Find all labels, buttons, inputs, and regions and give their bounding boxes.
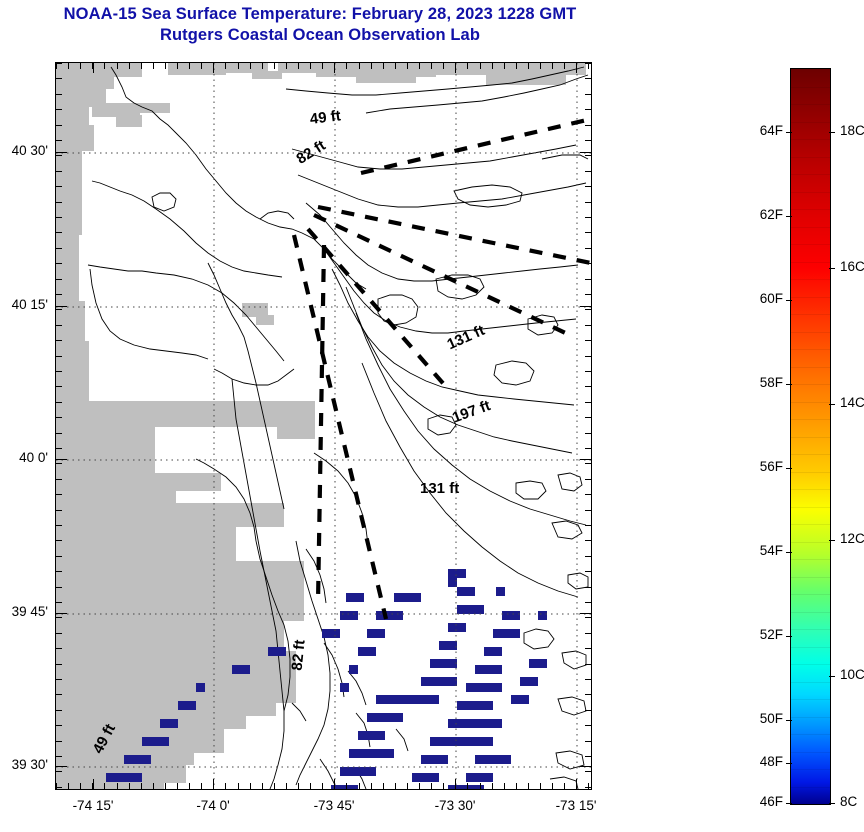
x-minor-tick: [516, 63, 517, 69]
y-minor-tick: [56, 617, 62, 618]
colorbar-band: [791, 542, 830, 561]
y-minor-tick: [56, 463, 62, 464]
x-minor-tick: [238, 783, 239, 789]
x-minor-tick: [286, 783, 287, 789]
colorbar-band: [791, 769, 830, 788]
colorbar-tick: [829, 540, 835, 541]
colorbar-band: [791, 314, 830, 333]
x-minor-tick: [310, 783, 311, 789]
y-minor-tick: [56, 371, 62, 372]
x-minor-tick: [262, 783, 263, 789]
x-minor-tick: [467, 783, 468, 789]
x-minor-tick: [129, 783, 130, 789]
x-major-tick: [576, 63, 577, 73]
depth-131ft-south: 131 ft: [420, 480, 459, 497]
colorbar-band: [791, 227, 830, 246]
x-minor-tick: [371, 783, 372, 789]
y-minor-tick: [585, 340, 591, 341]
x-minor-tick: [492, 63, 493, 69]
y-minor-tick: [585, 756, 591, 757]
x-minor-tick: [141, 63, 142, 69]
x-minor-tick: [298, 63, 299, 69]
y-minor-tick: [56, 94, 62, 95]
x-minor-tick: [225, 783, 226, 789]
x-minor-tick: [395, 63, 396, 69]
x-minor-tick: [528, 63, 529, 69]
sst-colorbar: [790, 68, 831, 805]
x-minor-tick: [274, 783, 275, 789]
colorbar-c-label: 8C: [840, 794, 857, 809]
colorbar-band: [791, 787, 830, 806]
y-minor-tick: [56, 725, 62, 726]
y-minor-tick: [585, 217, 591, 218]
y-minor-tick: [585, 664, 591, 665]
colorbar-band: [791, 402, 830, 421]
colorbar-band: [791, 139, 830, 158]
colorbar-c-label: 18C: [840, 123, 864, 138]
y-minor-tick: [585, 202, 591, 203]
x-minor-tick: [153, 783, 154, 789]
y-major-tick: [580, 306, 591, 307]
x-minor-tick: [189, 783, 190, 789]
x-minor-tick: [80, 63, 81, 69]
x-axis-label: -74 15': [45, 798, 141, 813]
y-minor-tick: [585, 263, 591, 264]
x-major-tick: [213, 63, 214, 73]
x-major-tick: [455, 779, 456, 789]
x-minor-tick: [564, 783, 565, 789]
colorbar-band: [791, 507, 830, 526]
colorbar-band: [791, 69, 830, 88]
x-minor-tick: [104, 63, 105, 69]
y-minor-tick: [585, 787, 591, 788]
y-minor-tick: [56, 433, 62, 434]
x-minor-tick: [371, 63, 372, 69]
y-minor-tick: [56, 78, 62, 79]
x-minor-tick: [504, 783, 505, 789]
x-minor-tick: [201, 63, 202, 69]
y-minor-tick: [585, 679, 591, 680]
colorbar-tick: [786, 384, 792, 385]
colorbar-band: [791, 717, 830, 736]
colorbar-band: [791, 454, 830, 473]
x-minor-tick: [165, 783, 166, 789]
colorbar-f-label: 64F: [735, 123, 783, 138]
x-minor-tick: [346, 63, 347, 69]
x-minor-tick: [540, 783, 541, 789]
x-major-tick: [213, 779, 214, 789]
y-minor-tick: [585, 371, 591, 372]
y-minor-tick: [585, 232, 591, 233]
colorbar-band: [791, 332, 830, 351]
colorbar-band: [791, 297, 830, 316]
x-minor-tick: [117, 783, 118, 789]
x-minor-tick: [177, 783, 178, 789]
colorbar-c-label: 12C: [840, 531, 864, 546]
y-major-tick: [56, 459, 67, 460]
y-minor-tick: [585, 402, 591, 403]
y-minor-tick: [585, 248, 591, 249]
y-minor-tick: [585, 417, 591, 418]
x-minor-tick: [250, 783, 251, 789]
x-minor-tick: [383, 63, 384, 69]
y-minor-tick: [585, 463, 591, 464]
y-minor-tick: [585, 294, 591, 295]
colorbar-band: [791, 734, 830, 753]
y-minor-tick: [56, 448, 62, 449]
transect-lines-layer: [56, 63, 591, 789]
x-minor-tick: [516, 783, 517, 789]
colorbar-band: [791, 262, 830, 281]
y-minor-tick: [56, 109, 62, 110]
y-minor-tick: [56, 140, 62, 141]
x-minor-tick: [419, 783, 420, 789]
y-minor-tick: [56, 556, 62, 557]
y-minor-tick: [56, 787, 62, 788]
title-line-1: NOAA-15 Sea Surface Temperature: Februar…: [0, 4, 640, 25]
y-minor-tick: [56, 771, 62, 772]
colorbar-c-label: 10C: [840, 667, 864, 682]
colorbar-tick: [829, 268, 835, 269]
y-major-tick: [56, 766, 67, 767]
y-minor-tick: [56, 202, 62, 203]
y-minor-tick: [585, 494, 591, 495]
y-major-tick: [580, 459, 591, 460]
x-minor-tick: [189, 63, 190, 69]
colorbar-gradient: [791, 69, 830, 804]
x-minor-tick: [480, 783, 481, 789]
x-major-tick: [93, 63, 94, 73]
y-minor-tick: [56, 125, 62, 126]
colorbar-band: [791, 629, 830, 648]
colorbar-band: [791, 384, 830, 403]
y-minor-tick: [56, 479, 62, 480]
x-minor-tick: [322, 783, 323, 789]
x-minor-tick: [564, 63, 565, 69]
x-minor-tick: [68, 783, 69, 789]
x-minor-tick: [504, 63, 505, 69]
y-minor-tick: [585, 771, 591, 772]
x-minor-tick: [383, 783, 384, 789]
colorbar-f-label: 46F: [735, 794, 783, 809]
depth-82ft-south: 82 ft: [289, 639, 309, 671]
x-minor-tick: [80, 783, 81, 789]
colorbar-band: [791, 367, 830, 386]
y-minor-tick: [585, 140, 591, 141]
colorbar-tick: [829, 803, 835, 804]
colorbar-band: [791, 647, 830, 666]
y-major-tick: [56, 152, 67, 153]
y-minor-tick: [56, 417, 62, 418]
title-line-2: Rutgers Coastal Ocean Observation Lab: [0, 25, 640, 46]
colorbar-band: [791, 157, 830, 176]
x-minor-tick: [322, 63, 323, 69]
x-major-tick: [93, 779, 94, 789]
y-minor-tick: [585, 556, 591, 557]
colorbar-f-label: 56F: [735, 459, 783, 474]
y-minor-tick: [585, 63, 591, 64]
y-minor-tick: [585, 279, 591, 280]
colorbar-band: [791, 524, 830, 543]
x-minor-tick: [467, 63, 468, 69]
y-minor-tick: [56, 386, 62, 387]
y-major-tick: [580, 766, 591, 767]
y-minor-tick: [585, 725, 591, 726]
y-minor-tick: [585, 741, 591, 742]
x-minor-tick: [407, 63, 408, 69]
colorbar-band: [791, 437, 830, 456]
y-major-tick: [580, 152, 591, 153]
x-axis-label: -73 15': [528, 798, 624, 813]
x-minor-tick: [250, 63, 251, 69]
x-minor-tick: [443, 63, 444, 69]
x-minor-tick: [104, 783, 105, 789]
y-minor-tick: [56, 309, 62, 310]
y-minor-tick: [585, 694, 591, 695]
y-minor-tick: [56, 756, 62, 757]
colorbar-tick: [786, 552, 792, 553]
x-minor-tick: [298, 783, 299, 789]
y-minor-tick: [56, 571, 62, 572]
colorbar-band: [791, 104, 830, 123]
y-minor-tick: [56, 186, 62, 187]
sst-map-panel: [55, 62, 592, 790]
colorbar-band: [791, 489, 830, 508]
y-minor-tick: [585, 510, 591, 511]
colorbar-band: [791, 699, 830, 718]
colorbar-band: [791, 279, 830, 298]
x-major-tick: [334, 63, 335, 73]
colorbar-band: [791, 419, 830, 438]
colorbar-band: [791, 577, 830, 596]
y-minor-tick: [585, 633, 591, 634]
x-axis-label: -73 30': [407, 798, 503, 813]
colorbar-tick: [786, 803, 792, 804]
x-minor-tick: [528, 783, 529, 789]
x-minor-tick: [346, 783, 347, 789]
colorbar-band: [791, 664, 830, 683]
x-major-tick: [576, 779, 577, 789]
y-minor-tick: [585, 386, 591, 387]
x-minor-tick: [177, 63, 178, 69]
colorbar-tick: [786, 720, 792, 721]
colorbar-band: [791, 174, 830, 193]
y-axis-label: 40 30': [0, 143, 48, 158]
y-minor-tick: [56, 664, 62, 665]
y-minor-tick: [56, 171, 62, 172]
x-minor-tick: [540, 63, 541, 69]
y-minor-tick: [585, 109, 591, 110]
y-minor-tick: [585, 479, 591, 480]
y-axis-label: 39 45': [0, 604, 48, 619]
colorbar-tick: [829, 404, 835, 405]
y-minor-tick: [56, 710, 62, 711]
x-minor-tick: [286, 63, 287, 69]
y-minor-tick: [56, 694, 62, 695]
x-minor-tick: [419, 63, 420, 69]
colorbar-f-label: 62F: [735, 207, 783, 222]
x-minor-tick: [407, 783, 408, 789]
x-minor-tick: [274, 63, 275, 69]
y-minor-tick: [585, 356, 591, 357]
y-minor-tick: [56, 263, 62, 264]
colorbar-band: [791, 349, 830, 368]
x-major-tick: [455, 63, 456, 73]
colorbar-tick: [786, 763, 792, 764]
colorbar-band: [791, 594, 830, 613]
colorbar-tick: [829, 132, 835, 133]
y-minor-tick: [56, 402, 62, 403]
y-minor-tick: [56, 525, 62, 526]
colorbar-f-label: 60F: [735, 291, 783, 306]
y-minor-tick: [585, 571, 591, 572]
y-minor-tick: [585, 433, 591, 434]
y-minor-tick: [585, 94, 591, 95]
colorbar-f-label: 50F: [735, 711, 783, 726]
y-minor-tick: [56, 741, 62, 742]
y-minor-tick: [56, 248, 62, 249]
y-minor-tick: [585, 78, 591, 79]
y-minor-tick: [585, 171, 591, 172]
y-minor-tick: [585, 648, 591, 649]
x-minor-tick: [395, 783, 396, 789]
x-minor-tick: [310, 63, 311, 69]
x-minor-tick: [431, 783, 432, 789]
y-major-tick: [56, 613, 67, 614]
y-minor-tick: [585, 186, 591, 187]
y-axis-label: 40 15': [0, 297, 48, 312]
y-minor-tick: [56, 279, 62, 280]
y-minor-tick: [56, 540, 62, 541]
y-minor-tick: [56, 494, 62, 495]
y-minor-tick: [56, 510, 62, 511]
colorbar-tick: [786, 468, 792, 469]
y-minor-tick: [56, 294, 62, 295]
y-minor-tick: [56, 232, 62, 233]
y-major-tick: [580, 613, 591, 614]
colorbar-band: [791, 122, 830, 141]
y-minor-tick: [585, 325, 591, 326]
x-minor-tick: [68, 63, 69, 69]
x-minor-tick: [117, 63, 118, 69]
colorbar-tick: [786, 300, 792, 301]
y-minor-tick: [56, 602, 62, 603]
y-minor-tick: [585, 602, 591, 603]
y-minor-tick: [585, 155, 591, 156]
y-minor-tick: [585, 125, 591, 126]
x-minor-tick: [359, 63, 360, 69]
y-major-tick: [56, 306, 67, 307]
colorbar-tick: [786, 636, 792, 637]
x-minor-tick: [153, 63, 154, 69]
x-minor-tick: [262, 63, 263, 69]
colorbar-band: [791, 192, 830, 211]
y-minor-tick: [56, 155, 62, 156]
x-minor-tick: [201, 783, 202, 789]
colorbar-f-label: 58F: [735, 375, 783, 390]
y-minor-tick: [585, 448, 591, 449]
colorbar-band: [791, 209, 830, 228]
colorbar-band: [791, 752, 830, 771]
y-minor-tick: [585, 587, 591, 588]
colorbar-band: [791, 87, 830, 106]
x-minor-tick: [552, 783, 553, 789]
y-minor-tick: [56, 679, 62, 680]
y-minor-tick: [56, 325, 62, 326]
y-minor-tick: [585, 309, 591, 310]
x-axis-label: -73 45': [286, 798, 382, 813]
colorbar-f-label: 54F: [735, 543, 783, 558]
chart-title: NOAA-15 Sea Surface Temperature: Februar…: [0, 4, 640, 46]
x-minor-tick: [480, 63, 481, 69]
x-minor-tick: [225, 63, 226, 69]
colorbar-f-label: 52F: [735, 627, 783, 642]
y-minor-tick: [585, 617, 591, 618]
x-minor-tick: [552, 63, 553, 69]
colorbar-tick: [786, 132, 792, 133]
colorbar-tick: [829, 676, 835, 677]
colorbar-c-label: 16C: [840, 259, 864, 274]
colorbar-tick: [786, 216, 792, 217]
x-minor-tick: [492, 783, 493, 789]
colorbar-c-label: 14C: [840, 395, 864, 410]
y-minor-tick: [585, 540, 591, 541]
colorbar-band: [791, 559, 830, 578]
y-minor-tick: [56, 587, 62, 588]
y-minor-tick: [585, 525, 591, 526]
y-minor-tick: [56, 340, 62, 341]
x-minor-tick: [359, 783, 360, 789]
x-minor-tick: [165, 63, 166, 69]
y-axis-label: 39 30': [0, 757, 48, 772]
x-minor-tick: [129, 63, 130, 69]
y-minor-tick: [56, 648, 62, 649]
y-minor-tick: [56, 633, 62, 634]
x-minor-tick: [443, 783, 444, 789]
x-minor-tick: [431, 63, 432, 69]
colorbar-band: [791, 472, 830, 491]
y-minor-tick: [56, 217, 62, 218]
y-minor-tick: [56, 63, 62, 64]
x-axis-label: -74 0': [165, 798, 261, 813]
colorbar-band: [791, 612, 830, 631]
x-major-tick: [334, 779, 335, 789]
x-minor-tick: [238, 63, 239, 69]
colorbar-f-label: 48F: [735, 754, 783, 769]
y-minor-tick: [585, 710, 591, 711]
x-minor-tick: [141, 783, 142, 789]
y-minor-tick: [56, 356, 62, 357]
y-axis-label: 40 0': [0, 450, 48, 465]
colorbar-band: [791, 682, 830, 701]
colorbar-band: [791, 244, 830, 263]
